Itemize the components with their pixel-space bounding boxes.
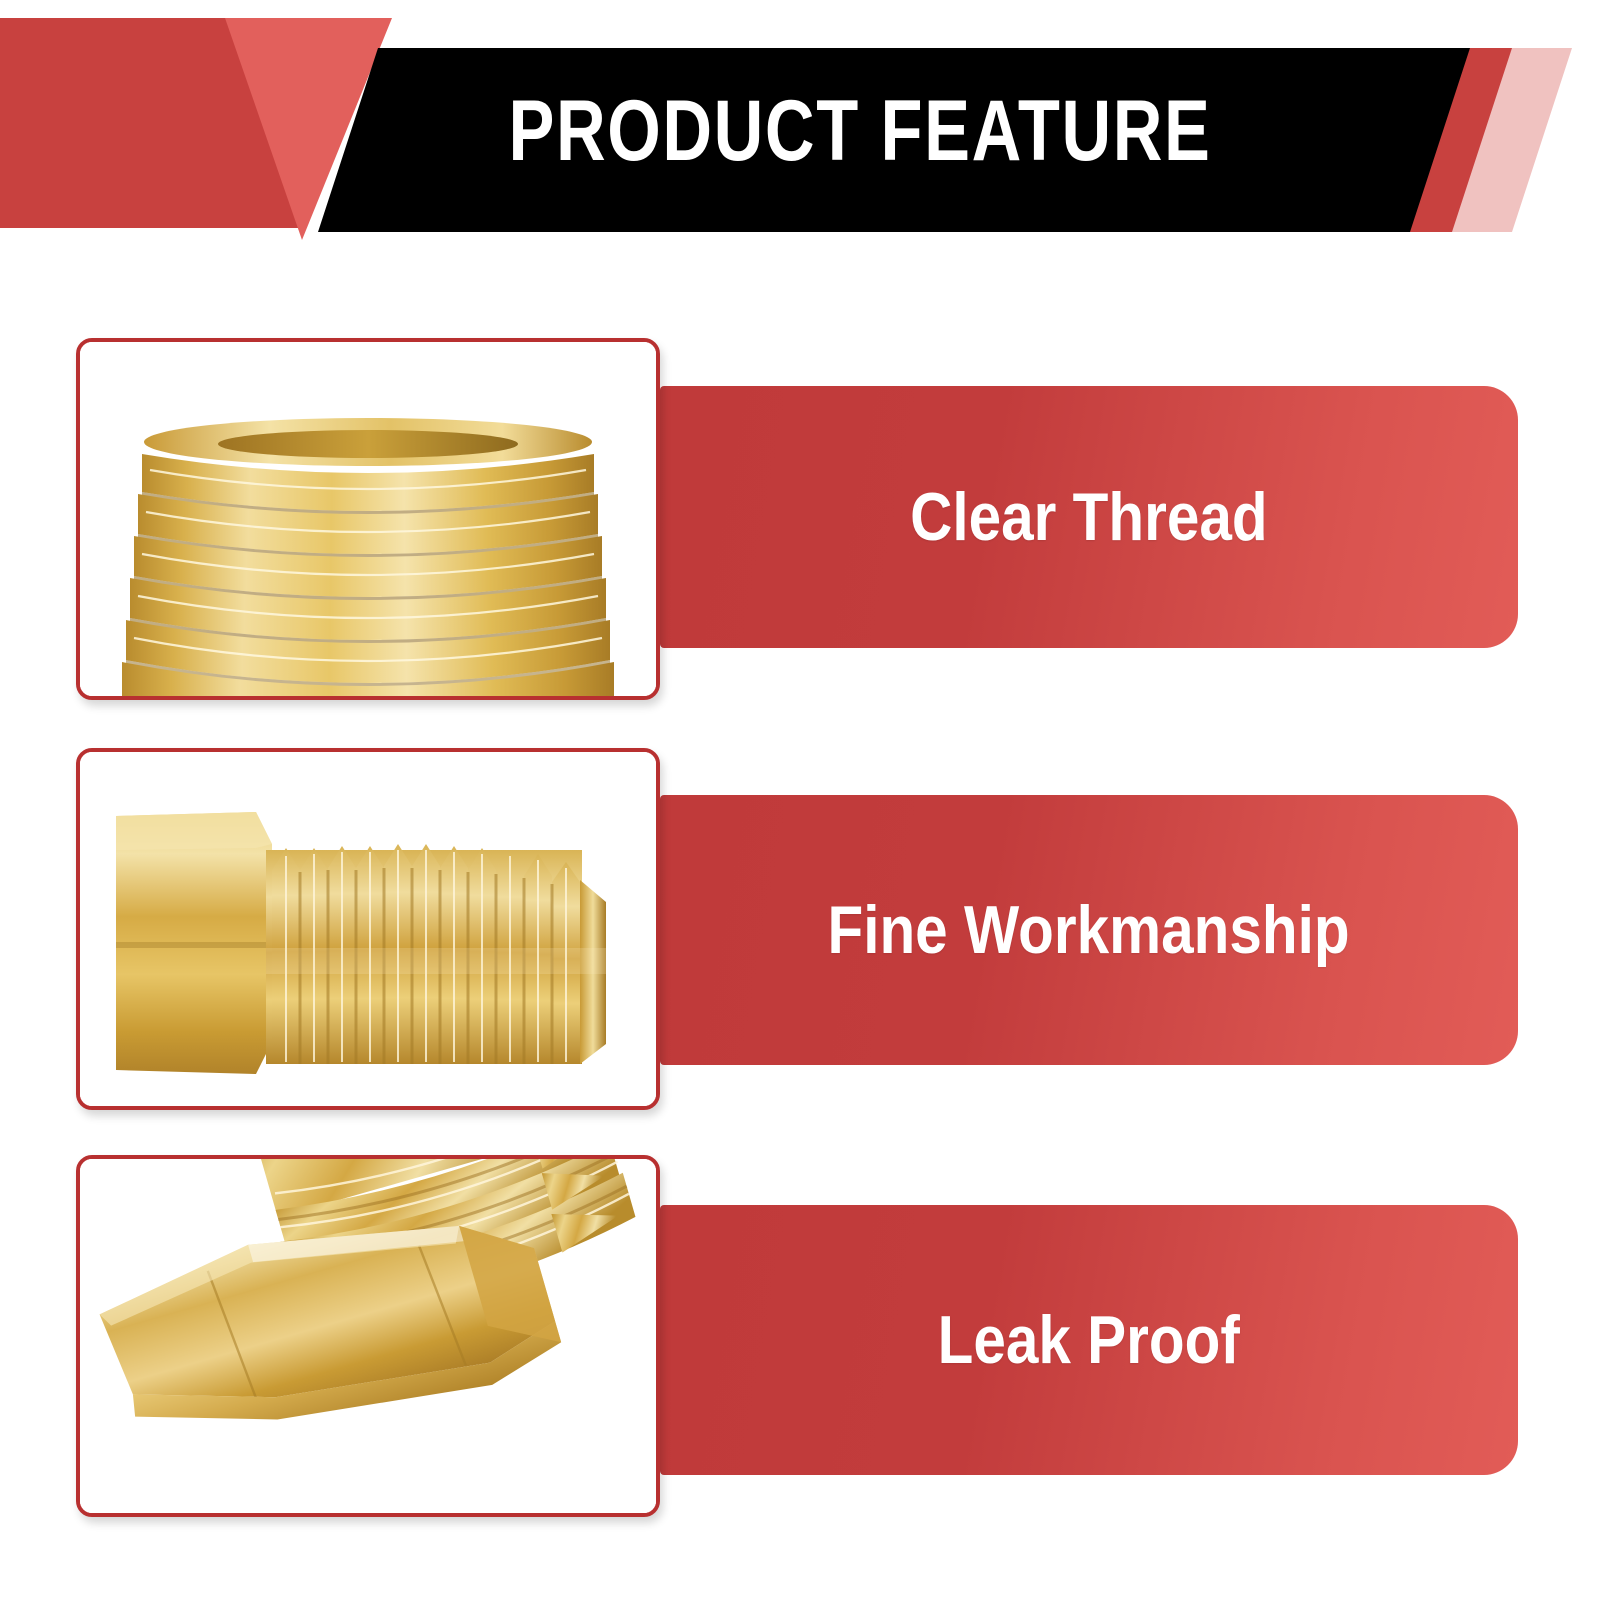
brass-hex-plug-side-photo [80, 752, 656, 1106]
feature-label-1: Clear Thread [910, 483, 1268, 551]
brass-hex-bushing-angled-photo [80, 1159, 656, 1513]
brass-thread-art-icon [80, 342, 656, 696]
feature-label-3: Leak Proof [938, 1306, 1240, 1374]
feature-image-frame-2 [76, 748, 660, 1110]
feature-label-2: Fine Workmanship [828, 896, 1350, 964]
feature-label-panel-1: Clear Thread [660, 386, 1518, 648]
product-feature-infographic: PRODUCT FEATURE [0, 0, 1600, 1600]
feature-label-panel-2: Fine Workmanship [660, 795, 1518, 1065]
feature-image-frame-3 [76, 1155, 660, 1517]
feature-label-panel-3: Leak Proof [660, 1205, 1518, 1475]
feature-list: Clear Thread [0, 0, 1600, 1600]
brass-hex-plug-art-icon [80, 752, 656, 1106]
brass-thread-closeup-photo [80, 342, 656, 696]
brass-hex-bushing-art-icon [80, 1159, 656, 1513]
feature-image-frame-1 [76, 338, 660, 700]
